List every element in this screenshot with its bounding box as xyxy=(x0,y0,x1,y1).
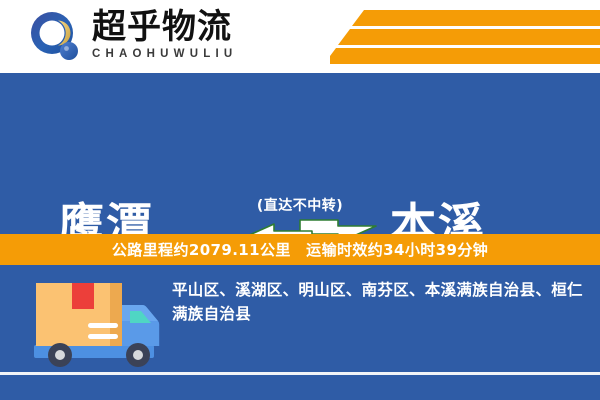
brand-name-cn: 超乎物流 xyxy=(92,8,282,46)
direct-shipping-note: (直达不中转) xyxy=(0,195,600,215)
coverage-panel: 平山区、溪湖区、明山区、南芬区、本溪满族自治县、桓仁满族自治县 xyxy=(0,265,600,400)
route-info-text: 公路里程约2079.11公里 运输时效约34小时39分钟 xyxy=(112,239,488,260)
delivery-truck-icon xyxy=(18,273,170,373)
brand-name-block: 超乎物流 CHAOHUWULIU xyxy=(92,8,282,66)
orange-stripes-decoration xyxy=(330,8,600,64)
logistics-route-poster: 超乎物流 CHAOHUWULIU 鹰潭 (直达不中转) 【往返运输】 本溪 公路… xyxy=(0,0,600,400)
route-banner: 鹰潭 (直达不中转) 【往返运输】 本溪 xyxy=(0,73,600,234)
circle-moon-logo-icon xyxy=(28,10,82,64)
route-info-bar: 公路里程约2079.11公里 运输时效约34小时39分钟 xyxy=(0,234,600,265)
road-divider-line xyxy=(0,372,600,375)
poster-header: 超乎物流 CHAOHUWULIU xyxy=(0,0,600,72)
coverage-districts-text: 平山区、溪湖区、明山区、南芬区、本溪满族自治县、桓仁满族自治县 xyxy=(172,278,588,326)
brand-name-en: CHAOHUWULIU xyxy=(92,47,282,61)
